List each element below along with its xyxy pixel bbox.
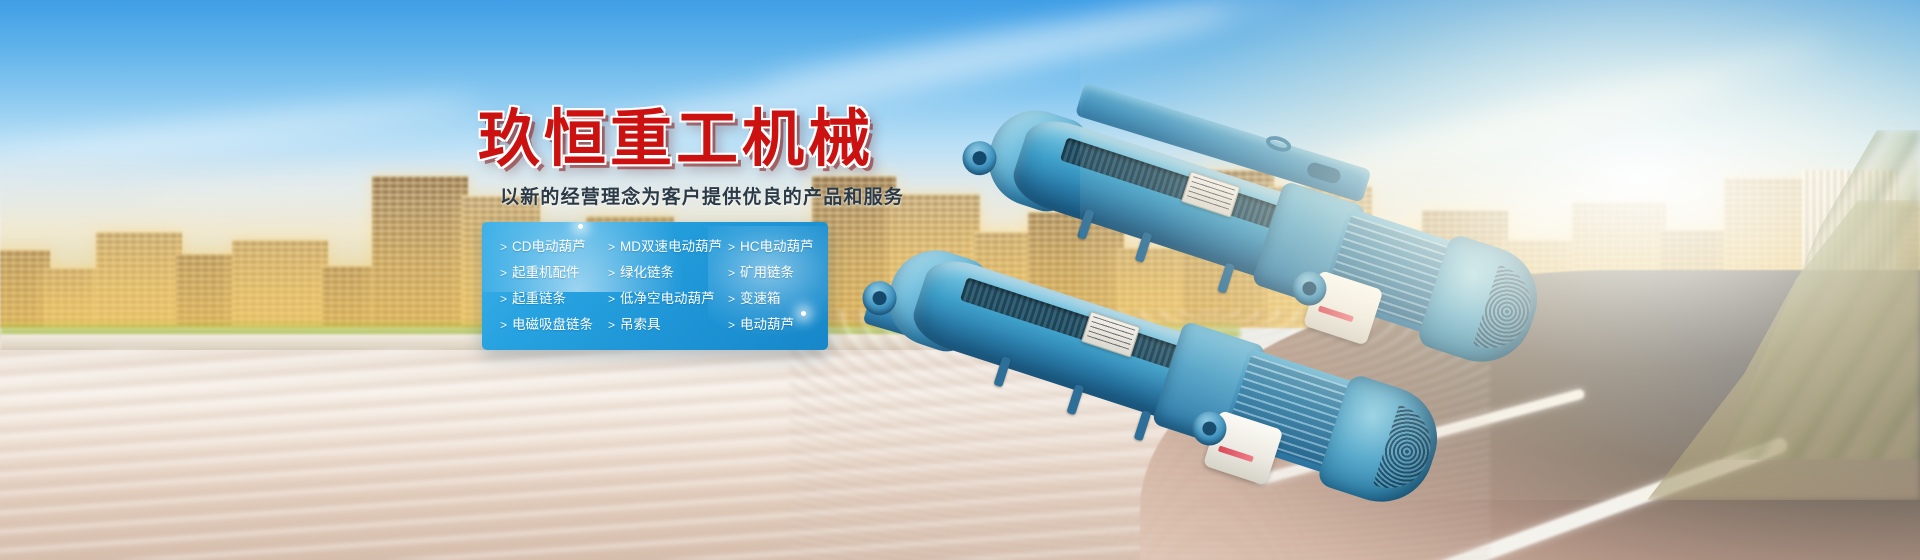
product-link-label: MD双速电动葫芦 (620, 240, 722, 254)
electric-hoist-group (860, 40, 1680, 460)
chevron-right-icon: > (608, 293, 615, 305)
product-link-label: CD电动葫芦 (512, 240, 586, 254)
product-link-label: 矿用链条 (740, 266, 794, 280)
product-link-label: 低净空电动葫芦 (620, 292, 715, 306)
page-subtitle: 以新的经营理念为客户提供优良的产品和服务 (500, 182, 904, 209)
product-link-label: 电动葫芦 (740, 318, 794, 332)
chevron-right-icon: > (728, 293, 735, 305)
hero-banner: 玖恒重工机械 以新的经营理念为客户提供优良的产品和服务 >CD电动葫芦>MD双速… (0, 0, 1920, 560)
product-link[interactable]: >绿化链条 (608, 260, 728, 286)
chevron-right-icon: > (500, 241, 507, 253)
chevron-right-icon: > (500, 319, 507, 331)
product-link[interactable]: >MD双速电动葫芦 (608, 234, 728, 260)
product-links-grid: >CD电动葫芦>MD双速电动葫芦>HC电动葫芦>起重机配件>绿化链条>矿用链条>… (482, 222, 828, 338)
product-link[interactable]: >电动葫芦 (728, 312, 828, 338)
product-link[interactable]: >起重机配件 (500, 260, 608, 286)
product-links-panel: >CD电动葫芦>MD双速电动葫芦>HC电动葫芦>起重机配件>绿化链条>矿用链条>… (482, 222, 828, 350)
product-link[interactable]: >变速箱 (728, 286, 828, 312)
product-link-label: 起重链条 (512, 292, 566, 306)
product-link-label: 变速箱 (740, 292, 781, 306)
product-link-label: 绿化链条 (620, 266, 674, 280)
chevron-right-icon: > (500, 293, 507, 305)
product-link-label: 起重机配件 (512, 266, 580, 280)
chevron-right-icon: > (728, 241, 735, 253)
chevron-right-icon: > (728, 267, 735, 279)
product-link[interactable]: >低净空电动葫芦 (608, 286, 728, 312)
chevron-right-icon: > (608, 319, 615, 331)
product-link-label: HC电动葫芦 (740, 240, 814, 254)
chevron-right-icon: > (728, 319, 735, 331)
chevron-right-icon: > (608, 267, 615, 279)
product-link[interactable]: >HC电动葫芦 (728, 234, 828, 260)
chevron-right-icon: > (608, 241, 615, 253)
product-link-label: 电磁吸盘链条 (512, 318, 593, 332)
product-link[interactable]: >CD电动葫芦 (500, 234, 608, 260)
product-link[interactable]: >矿用链条 (728, 260, 828, 286)
chevron-right-icon: > (500, 267, 507, 279)
page-title: 玖恒重工机械 (478, 108, 874, 170)
product-link[interactable]: >起重链条 (500, 286, 608, 312)
product-link[interactable]: >吊索具 (608, 312, 728, 338)
product-link[interactable]: >电磁吸盘链条 (500, 312, 608, 338)
product-link-label: 吊索具 (620, 318, 661, 332)
